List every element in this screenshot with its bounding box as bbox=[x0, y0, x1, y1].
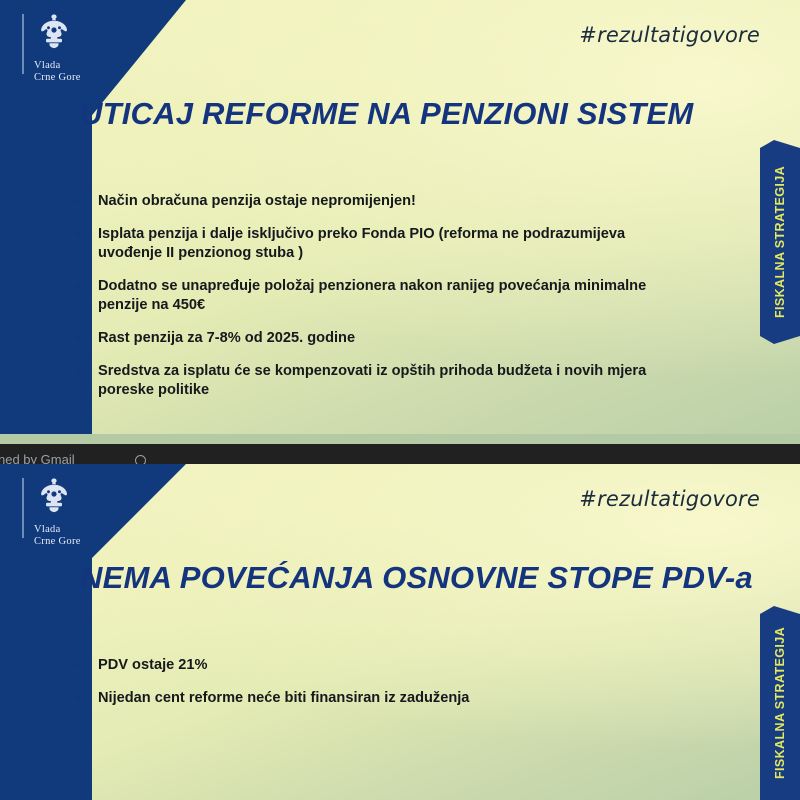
clipped-browser-text: ned by Gmail bbox=[0, 452, 75, 464]
brand-line-1: Vlada bbox=[34, 524, 118, 536]
slide-bottom-edge bbox=[0, 434, 800, 444]
bullet-marker-icon: • bbox=[72, 656, 98, 675]
montenegro-coat-of-arms-icon bbox=[34, 12, 74, 50]
list-item-text: Nijedan cent reforme neće biti finansira… bbox=[98, 689, 469, 708]
brand-line-2: Crne Gore bbox=[34, 536, 118, 548]
bullet-marker-icon: • bbox=[72, 192, 98, 211]
list-item-text: Dodatno se unapređuje položaj penzionera… bbox=[98, 277, 672, 315]
circle-info-icon bbox=[135, 455, 146, 464]
side-tab-fiskalna-strategija: FISKALNA STRATEGIJA bbox=[760, 606, 800, 800]
side-tab-label: FISKALNA STRATEGIJA bbox=[773, 627, 787, 779]
government-brand: Vlada Crne Gore bbox=[22, 476, 118, 547]
list-item: • Način obračuna penzija ostaje nepromij… bbox=[72, 192, 672, 211]
bullet-marker-icon: • bbox=[72, 689, 98, 708]
list-item: • PDV ostaje 21% bbox=[72, 656, 672, 675]
government-brand: Vlada Crne Gore bbox=[22, 12, 118, 83]
list-item-text: Način obračuna penzija ostaje nepromijen… bbox=[98, 192, 416, 211]
bullet-marker-icon: • bbox=[72, 225, 98, 263]
list-item-text: PDV ostaje 21% bbox=[98, 656, 208, 675]
montenegro-coat-of-arms-icon bbox=[34, 476, 74, 514]
brand-line-2: Crne Gore bbox=[34, 72, 118, 84]
campaign-hashtag: #rezultatigovore bbox=[579, 23, 760, 47]
list-item-text: Rast penzija za 7-8% od 2025. godine bbox=[98, 329, 355, 348]
bullet-marker-icon: • bbox=[72, 329, 98, 348]
bullet-marker-icon: • bbox=[72, 362, 98, 400]
slide-vat-rate: Vlada Crne Gore #rezultatigovore NEMA PO… bbox=[0, 464, 800, 800]
brand-divider bbox=[22, 14, 24, 74]
bullet-list: • Način obračuna penzija ostaje nepromij… bbox=[72, 192, 672, 414]
slide-title: UTICAJ REFORME NA PENZIONI SISTEM bbox=[80, 96, 693, 132]
campaign-hashtag: #rezultatigovore bbox=[579, 487, 760, 511]
list-item-text: Sredstva za isplatu će se kompenzovati i… bbox=[98, 362, 672, 400]
list-item: • Nijedan cent reforme neće biti finansi… bbox=[72, 689, 672, 708]
browser-chrome-band: ned by Gmail bbox=[0, 444, 800, 464]
side-tab-fiskalna-strategija: FISKALNA STRATEGIJA bbox=[760, 140, 800, 344]
brand-name: Vlada Crne Gore bbox=[34, 524, 118, 547]
bullet-list: • PDV ostaje 21% • Nijedan cent reforme … bbox=[72, 656, 672, 722]
bullet-marker-icon: • bbox=[72, 277, 98, 315]
slide-title: NEMA POVEĆANJA OSNOVNE STOPE PDV-a bbox=[80, 560, 753, 596]
brand-divider bbox=[22, 478, 24, 538]
slide-deck: Vlada Crne Gore #rezultatigovore UTICAJ … bbox=[0, 0, 800, 800]
list-item: • Rast penzija za 7-8% od 2025. godine bbox=[72, 329, 672, 348]
brand-line-1: Vlada bbox=[34, 60, 118, 72]
list-item: • Sredstva za isplatu će se kompenzovati… bbox=[72, 362, 672, 400]
list-item: • Dodatno se unapređuje položaj penzione… bbox=[72, 277, 672, 315]
brand-name: Vlada Crne Gore bbox=[34, 60, 118, 83]
list-item-text: Isplata penzija i dalje isključivo preko… bbox=[98, 225, 672, 263]
list-item: • Isplata penzija i dalje isključivo pre… bbox=[72, 225, 672, 263]
slide-pension-reform: Vlada Crne Gore #rezultatigovore UTICAJ … bbox=[0, 0, 800, 448]
side-tab-label: FISKALNA STRATEGIJA bbox=[773, 166, 787, 318]
